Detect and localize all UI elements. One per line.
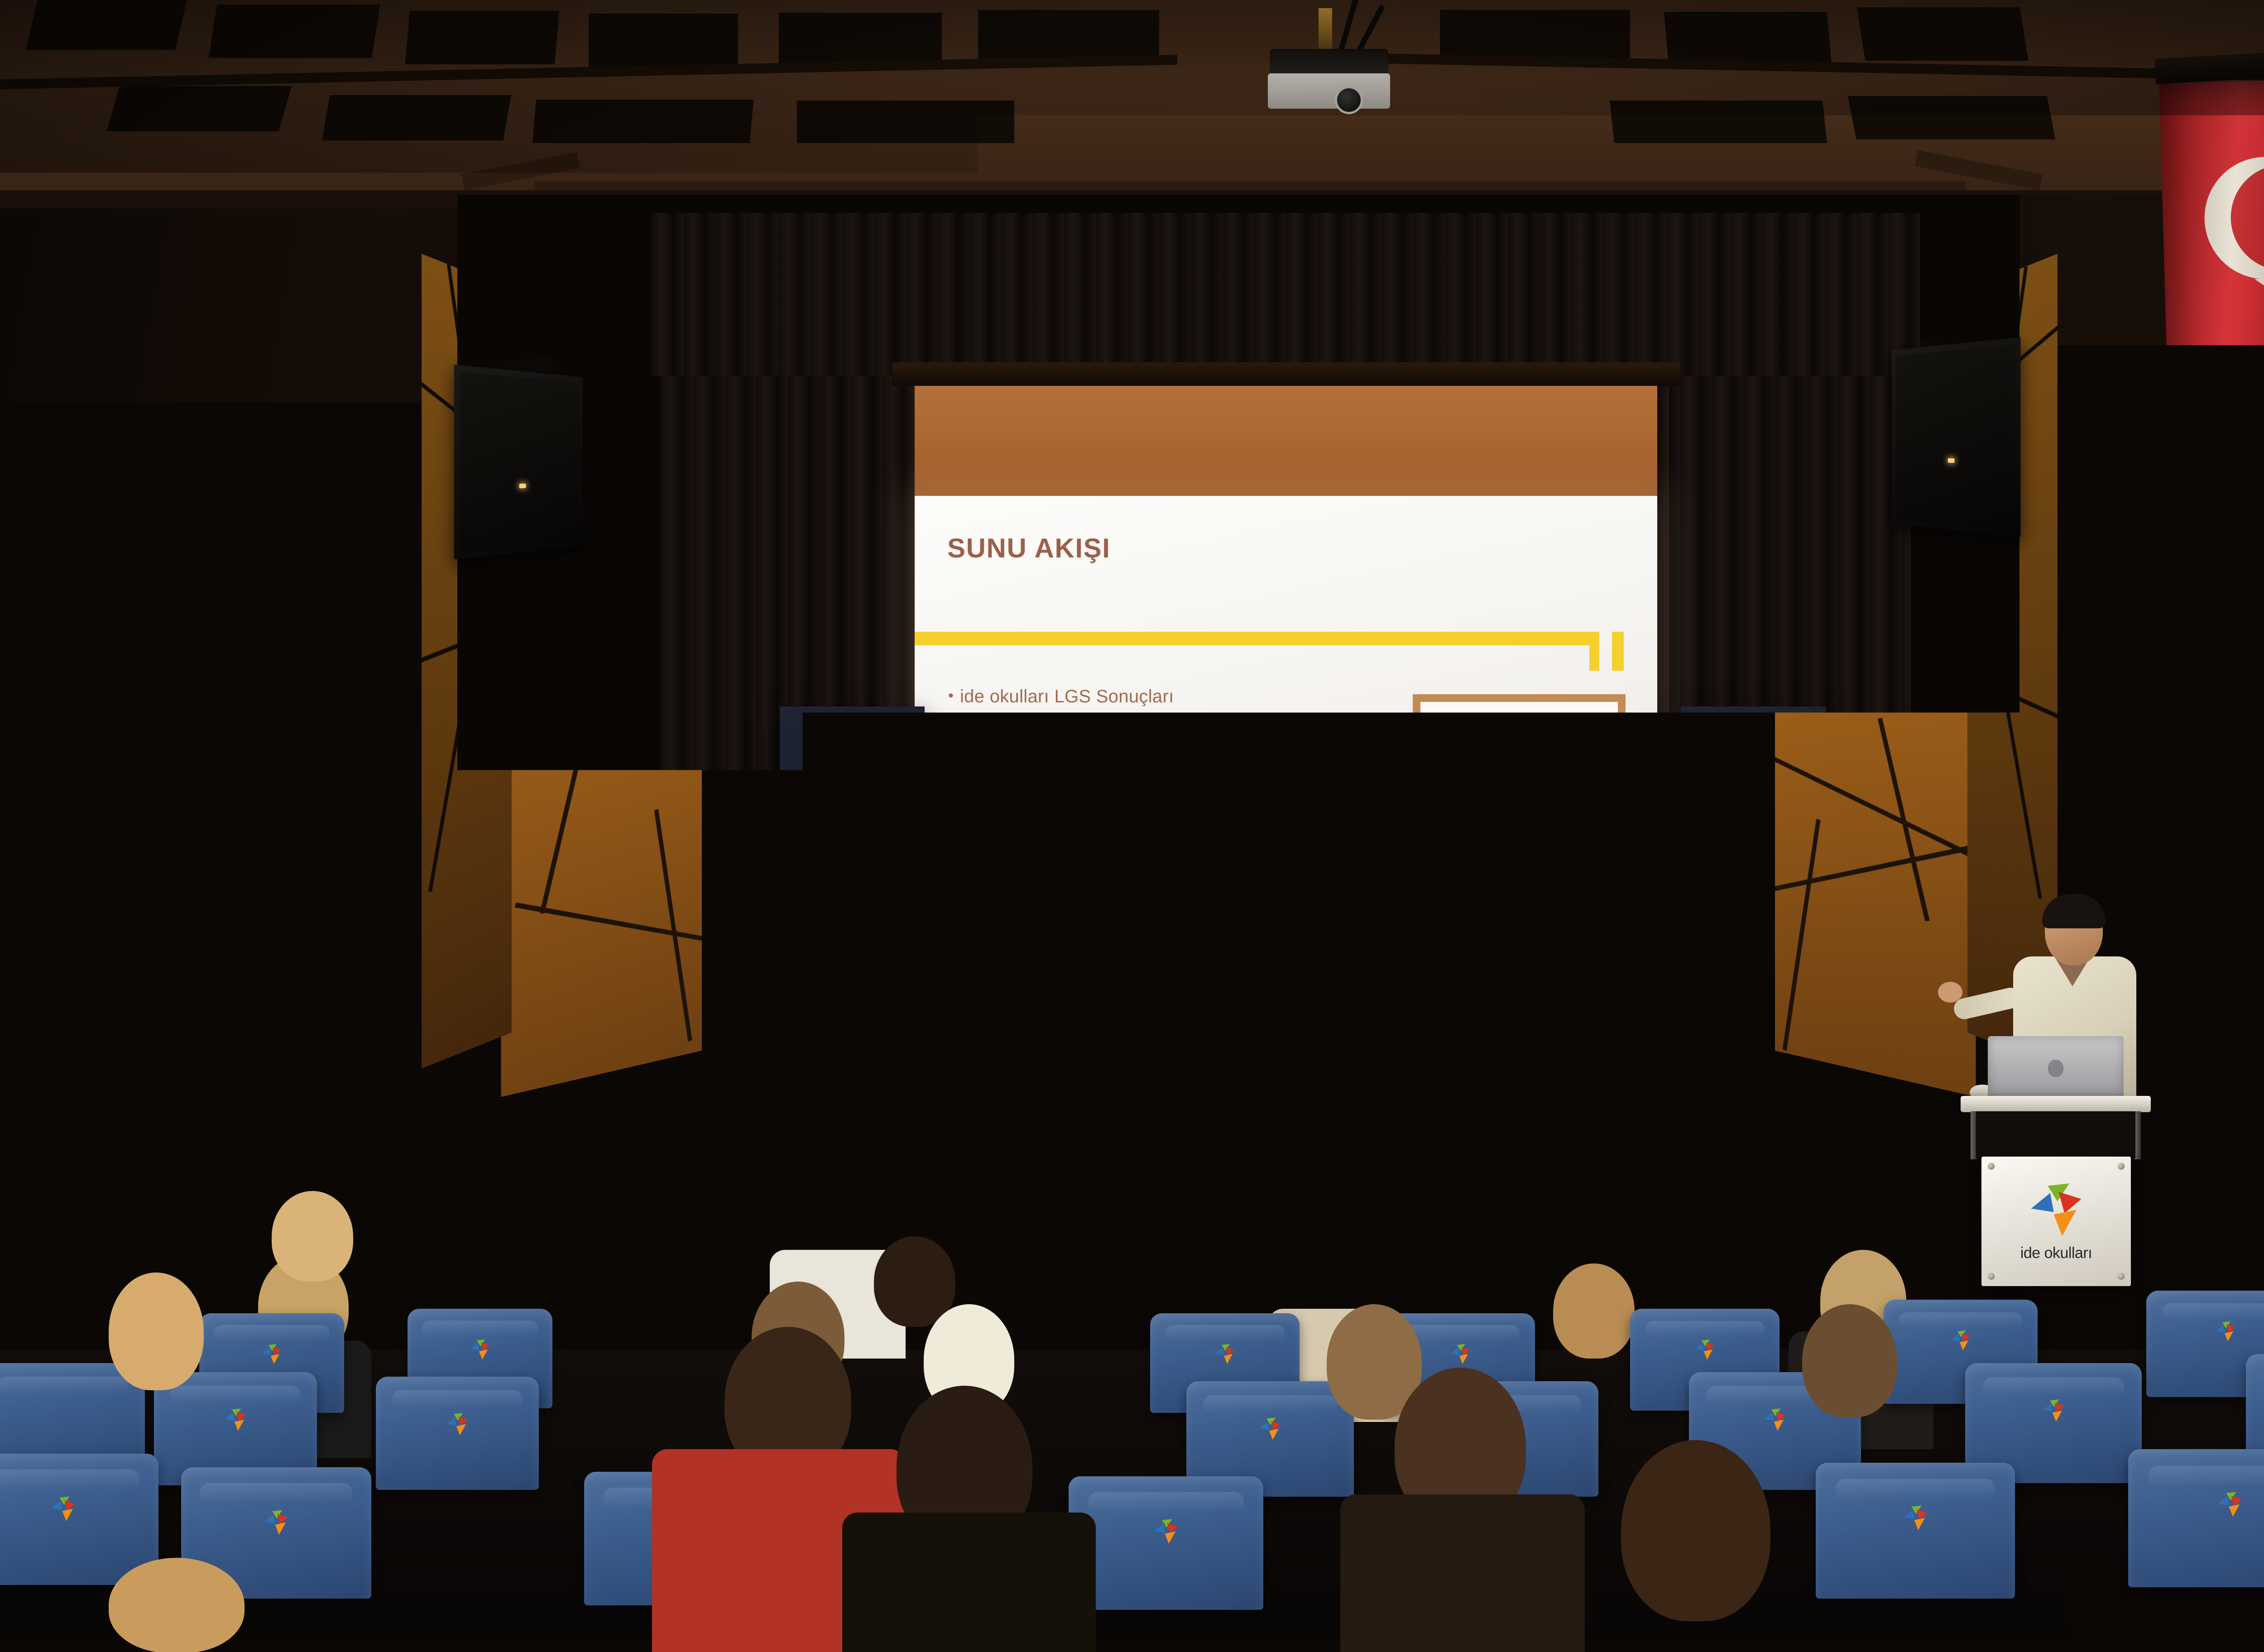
accent-hook	[1589, 632, 1599, 671]
seat-logo-icon	[259, 1343, 284, 1368]
projector-body	[1268, 73, 1390, 109]
bullet-marker: •	[948, 737, 960, 756]
bullet-text: LGS Nasıl Bir Sınav ?	[960, 711, 1369, 733]
seat-logo-icon	[1151, 1518, 1181, 1548]
accent-bar	[915, 632, 1599, 645]
stage-step	[494, 1135, 629, 1292]
projector-lens-icon	[1335, 86, 1363, 114]
bullet-marker: •	[948, 839, 960, 858]
auditorium-scene: SUNU AKIŞI • ide okulları LGS Sonuçları …	[0, 0, 2264, 1652]
slide-bullet-list: • ide okulları LGS Sonuçları • LGS Nasıl…	[948, 686, 1369, 890]
slide-bullet-item: • ide okulları LGS Sonuçları	[948, 686, 1369, 707]
audience-seat[interactable]	[376, 1377, 539, 1490]
seat-logo-icon	[2215, 1491, 2245, 1521]
ceiling-panel	[978, 10, 1159, 61]
audience-torso	[1340, 1494, 1585, 1652]
bullet-text: Devlet ve Özel Okulların Puan , Yüzdelik…	[960, 763, 1369, 784]
audience-seat[interactable]	[1816, 1463, 2015, 1599]
ceiling-panel	[589, 14, 738, 67]
speaker-power-led-icon	[519, 484, 526, 488]
rollup-logo-box-right: ide okulları	[1711, 732, 1790, 782]
rollup-foot-left	[770, 1035, 933, 1046]
seat-logo-icon	[261, 1509, 292, 1539]
pa-speaker-right[interactable]	[1892, 337, 2021, 537]
slide-bullet-item: • Güzel Sanatlar ve Spor Liseleri	[948, 813, 1369, 835]
ceiling-panel	[26, 0, 187, 50]
bullet-marker: •	[948, 813, 960, 833]
slide-content: SUNU AKIŞI • ide okulları LGS Sonuçları …	[915, 496, 1657, 971]
rollup-blue-shape	[1681, 965, 1718, 1037]
apple-logo-icon	[2048, 1060, 2063, 1077]
seat-logo-icon	[1213, 1343, 1237, 1368]
lectern-top-surface	[1961, 1096, 2151, 1112]
bullet-text: LGS İstatistikleri	[960, 788, 1369, 809]
audience-torso	[1558, 1571, 1838, 1652]
audience-head	[874, 1236, 955, 1327]
ide-okullari-logo-icon	[1510, 878, 1528, 896]
audience-head	[1553, 1263, 1635, 1359]
audience-seat[interactable]	[1069, 1476, 1263, 1610]
audience-head	[1073, 1232, 1159, 1329]
ceiling-panel	[532, 100, 753, 143]
lectern-branding-plate: ide okulları	[1981, 1157, 2131, 1286]
lectern-shaft	[1976, 1111, 2135, 1158]
lectern-brand-text: ide okulları	[2020, 1244, 2092, 1262]
bullet-marker: •	[948, 763, 960, 782]
ceiling-panel	[1664, 12, 1832, 65]
ceiling-panel	[1440, 10, 1630, 61]
stage-curtain-top	[652, 213, 1920, 376]
lectern: ide okulları	[1961, 1096, 2151, 1291]
seat-logo-icon	[444, 1412, 471, 1440]
speaker-grill	[460, 372, 578, 553]
seat-logo-icon	[468, 1339, 492, 1364]
ide-okullari-logo-icon	[836, 733, 868, 761]
ceiling-panel	[1857, 7, 2029, 61]
lectern-screw	[1988, 1163, 1995, 1170]
slide-bullet-item: • Evdeki Sınav Ekolojisi	[948, 864, 1369, 885]
lectern-screw	[2118, 1163, 2125, 1170]
seat-logo-icon	[2040, 1398, 2067, 1426]
audience-torso	[842, 1513, 1096, 1652]
rollup-logo-text-right: ide okulları	[1733, 767, 1768, 776]
slide-bullet-item: • Devlet ve Özel Okulların Puan , Yüzdel…	[948, 763, 1369, 784]
lectern-post	[2134, 1111, 2141, 1159]
bullet-text: LGS Sonrası Tercih Süreci	[960, 839, 1369, 860]
exit-line-2: ÇIKIŞ	[317, 797, 364, 805]
ide-okullari-logo-icon	[1734, 738, 1767, 766]
rollup-banner-left: ide okulları	[780, 706, 925, 1037]
ceiling-panel	[1610, 101, 1827, 143]
rollup-foot-right	[1671, 1035, 1834, 1046]
bullet-marker: •	[948, 788, 960, 807]
exit-sign-text: ACİL ÇIKIŞ EXIT	[317, 789, 365, 810]
slide-illustration: ide okulları	[1420, 702, 1618, 913]
audience-seat[interactable]	[0, 1454, 158, 1585]
rollup-logo-box-left: ide okulları	[812, 727, 892, 777]
bullet-marker: •	[948, 686, 960, 706]
screen-edge-right	[1657, 386, 1669, 972]
slide-illustration-frame: ide okulları	[1413, 694, 1626, 921]
presenter-laptop[interactable]	[1988, 1036, 2124, 1100]
ceiling-panel	[107, 86, 292, 131]
ceiling-panel	[209, 5, 380, 58]
rollup-blue-shape	[780, 960, 818, 1037]
presenter-hair	[2042, 894, 2106, 928]
slide-bullet-item: • LGS Sonrası Tercih Süreci	[948, 839, 1369, 860]
projector-top-shell	[1270, 49, 1388, 77]
ide-okullari-logo-icon	[2023, 1181, 2090, 1241]
bullet-text: ide okulları LGS Sonuçları	[960, 686, 1369, 707]
slide-illustration-logo: ide okulları	[1508, 878, 1530, 903]
ceiling-panel	[797, 101, 1014, 143]
slide-bullet-item: • Merkezi , Yerel ve Pansiyonlu Okul Tür…	[948, 737, 1369, 758]
presenter-figure-icon	[1552, 755, 1624, 891]
screen-housing	[892, 362, 1680, 386]
bullet-text: Merkezi , Yerel ve Pansiyonlu Okul Türle…	[960, 737, 1369, 758]
seat-logo-icon	[48, 1495, 79, 1526]
speaker-power-led-icon	[1948, 458, 1955, 463]
exit-arrow-icon: ←	[291, 785, 317, 815]
pa-speaker-left[interactable]	[454, 365, 583, 559]
lectern-screw	[2118, 1273, 2125, 1280]
speaker-grill	[1896, 345, 2015, 531]
slide-bullet-item: • LGS Nasıl Bir Sınav ?	[948, 711, 1369, 733]
projection-screen: SUNU AKIŞI • ide okulları LGS Sonuçları …	[915, 496, 1657, 971]
bullet-marker: •	[948, 711, 960, 731]
ceiling-panel	[779, 13, 942, 65]
accent-tick	[1612, 632, 1624, 671]
exit-line-3: EXIT	[317, 805, 364, 810]
audience-head	[272, 1191, 353, 1282]
seat-logo-icon	[1693, 1339, 1717, 1364]
bullet-text: Evdeki Sınav Ekolojisi	[960, 864, 1369, 885]
slide-accent-rule	[915, 623, 1657, 666]
audience-head	[643, 1223, 729, 1322]
laptop-lid	[1988, 1036, 2124, 1096]
seat-logo-icon	[2213, 1321, 2238, 1345]
rollup-logo-text-left: ide okulları	[835, 763, 869, 772]
screen-leader-band	[915, 386, 1657, 497]
seat-logo-icon	[1257, 1417, 1284, 1444]
audience-head	[1802, 1304, 1897, 1417]
seat-logo-icon	[1900, 1504, 1931, 1535]
ceiling-panel	[322, 95, 511, 140]
ceiling-panel	[1848, 96, 2056, 139]
slide-illustration-logo-caption: ide okulları	[1508, 898, 1530, 903]
left-wall-dark	[0, 208, 457, 1304]
exit-line-1: ACİL	[317, 789, 364, 797]
bullet-marker: •	[948, 864, 960, 884]
rollup-banner-right: ide okulları	[1681, 706, 1826, 1037]
seat-logo-icon	[222, 1407, 249, 1435]
lectern-screw	[1988, 1273, 1995, 1280]
audience-head	[109, 1273, 204, 1390]
ceiling-projector	[1268, 41, 1390, 109]
seat-logo-icon	[1761, 1407, 1789, 1435]
slide-title: SUNU AKIŞI	[947, 535, 1630, 562]
slide-bullet-item: • LGS İstatistikleri	[948, 788, 1369, 809]
projector-mount	[1319, 8, 1332, 50]
bullet-text: Güzel Sanatlar ve Spor Liseleri	[960, 813, 1369, 835]
audience-head	[109, 1558, 245, 1652]
seat-logo-icon	[1948, 1330, 1973, 1354]
ceiling-panel	[405, 11, 559, 64]
seat-logo-icon	[1448, 1343, 1473, 1368]
presenter-hand	[1938, 982, 1962, 1003]
emergency-exit-sign: ← ACİL ÇIKIŞ EXIT	[290, 783, 367, 816]
audience-seat[interactable]	[2128, 1449, 2264, 1587]
